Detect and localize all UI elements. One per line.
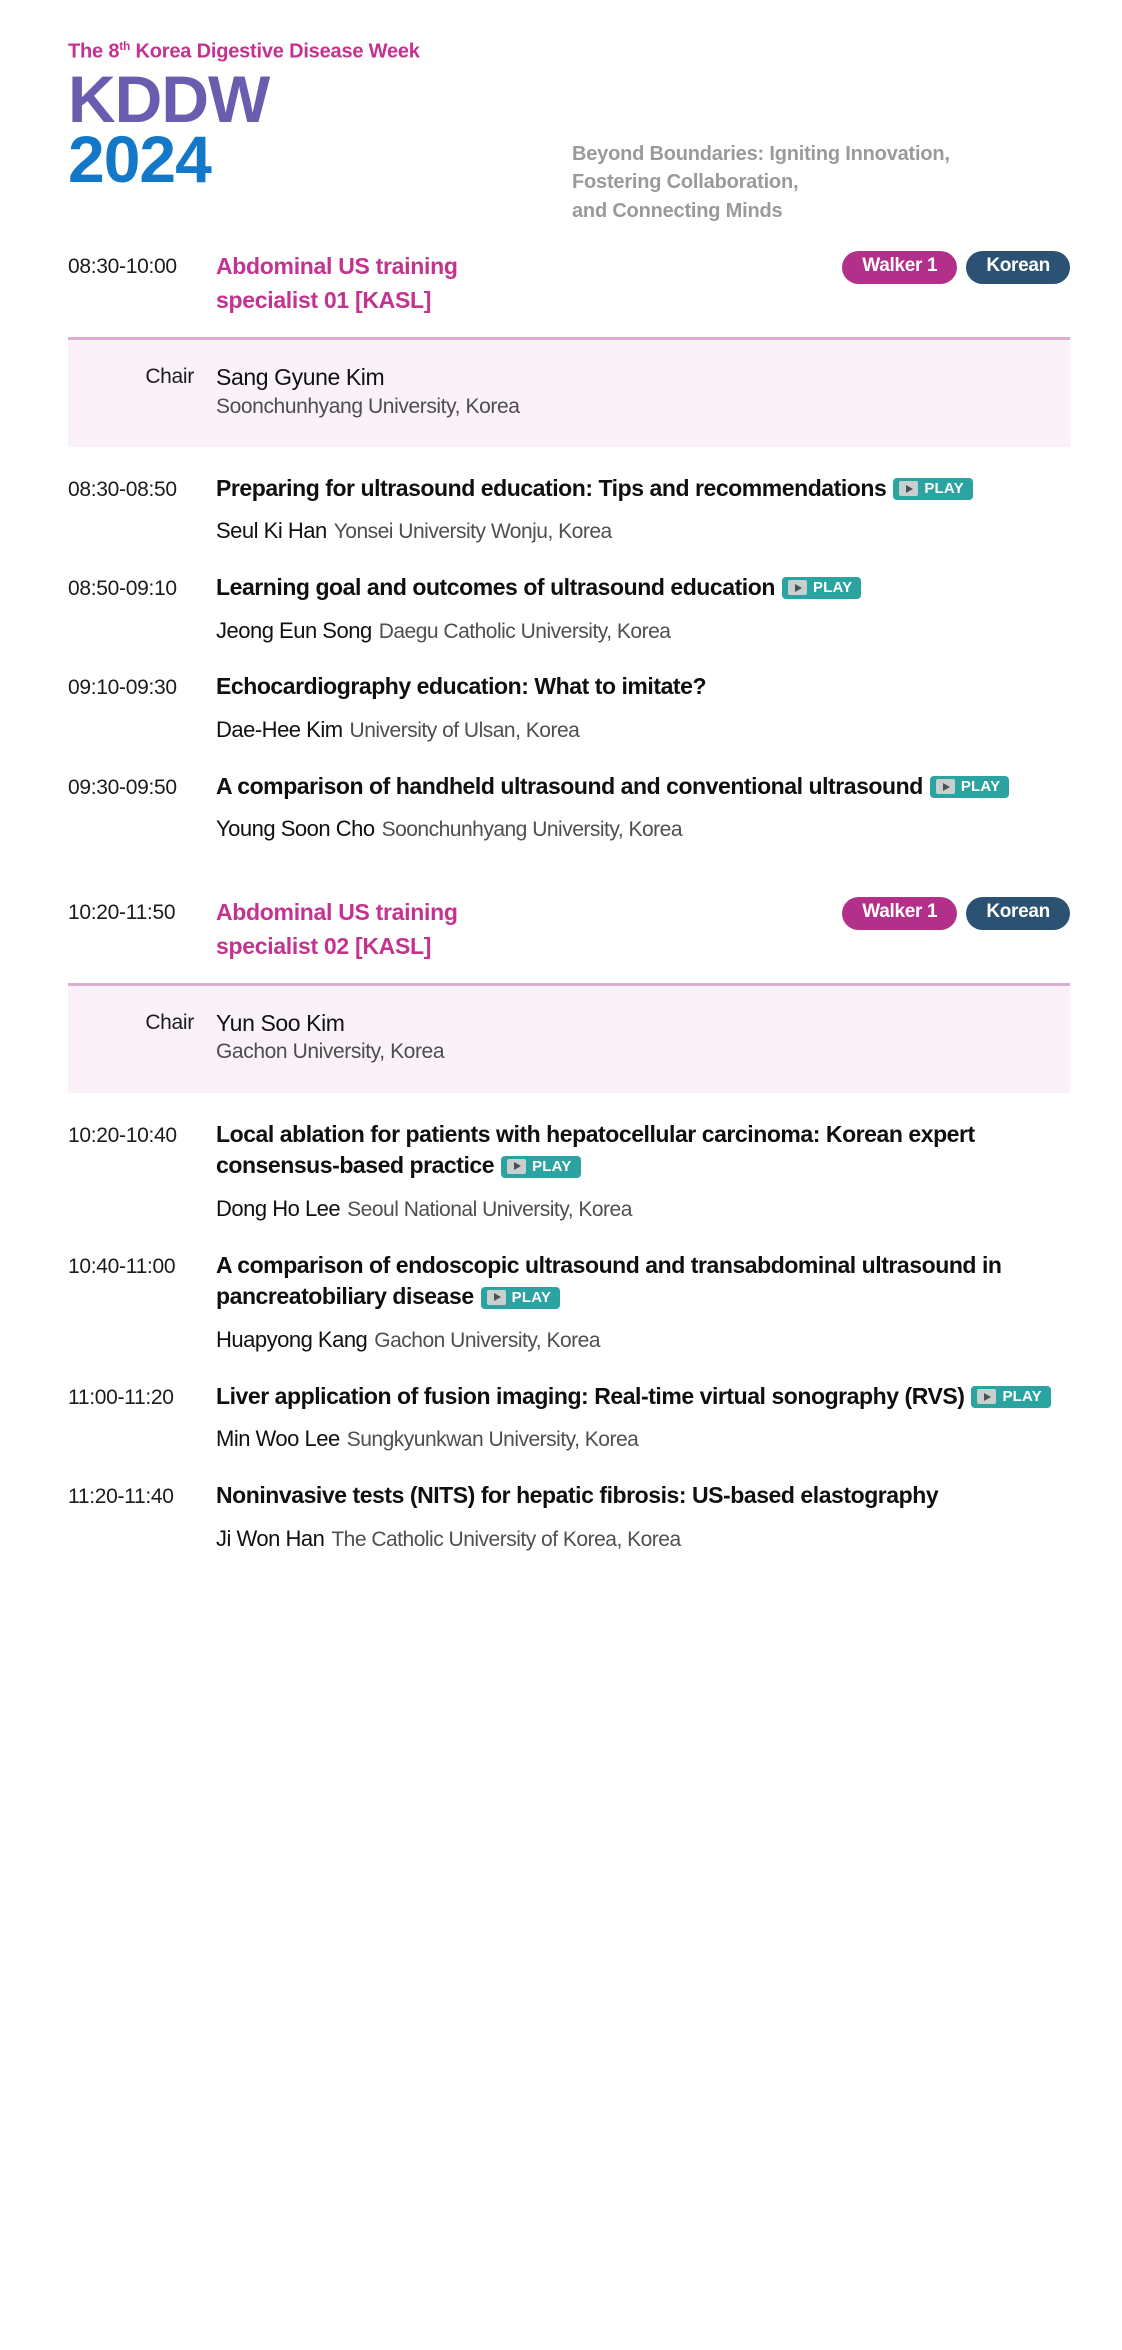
talk-row[interactable]: 10:20-10:40Local ablation for patients w…: [0, 1093, 1092, 1224]
play-label: PLAY: [1002, 1389, 1041, 1404]
chair-name: Sang Gyune Kim: [216, 362, 1070, 392]
speaker-name: Jeong Eun Song: [216, 618, 372, 643]
talk-title-text: A comparison of handheld ultrasound and …: [216, 773, 923, 799]
speaker-affiliation: Gachon University, Korea: [374, 1329, 600, 1352]
talk-body: Echocardiography education: What to imit…: [216, 671, 1070, 744]
chair-label: Chair: [68, 362, 216, 391]
talk-row[interactable]: 09:10-09:30Echocardiography education: W…: [0, 645, 1092, 744]
play-button[interactable]: PLAY: [893, 478, 972, 500]
tagline-ordinal: th: [119, 39, 130, 53]
talk-time: 09:30-09:50: [68, 771, 216, 803]
speaker-name: Dae-Hee Kim: [216, 717, 343, 742]
speaker-line: Huapyong KangGachon University, Korea: [216, 1326, 1070, 1355]
chair-info: Sang Gyune KimSoonchunhyang University, …: [216, 362, 1070, 420]
talk-title[interactable]: Preparing for ultrasound education: Tips…: [216, 473, 1070, 505]
program-list: 08:30-10:00Abdominal US trainingspeciali…: [0, 250, 1122, 1553]
chair-name: Yun Soo Kim: [216, 1008, 1070, 1038]
slogan-line-3: and Connecting Minds: [572, 197, 950, 225]
talk-title[interactable]: A comparison of endoscopic ultrasound an…: [216, 1250, 1070, 1313]
play-label: PLAY: [532, 1159, 571, 1174]
room-badge: Walker 1: [842, 251, 957, 284]
talk-body: Learning goal and outcomes of ultrasound…: [216, 572, 1070, 645]
speaker-affiliation: Soonchunhyang University, Korea: [382, 818, 682, 841]
session-title[interactable]: Abdominal US trainingspecialist 02 [KASL…: [216, 896, 516, 963]
talk-title-text: Liver application of fusion imaging: Rea…: [216, 1383, 964, 1409]
talk-body: A comparison of endoscopic ultrasound an…: [216, 1250, 1070, 1355]
session-title[interactable]: Abdominal US trainingspecialist 01 [KASL…: [216, 250, 516, 317]
chair-label: Chair: [68, 1008, 216, 1037]
language-badge: Korean: [966, 251, 1070, 284]
play-button[interactable]: PLAY: [971, 1386, 1050, 1408]
speaker-name: Huapyong Kang: [216, 1327, 367, 1352]
talk-time: 10:40-11:00: [68, 1250, 216, 1282]
talk-title[interactable]: Echocardiography education: What to imit…: [216, 671, 1070, 703]
session-block: 08:30-10:00Abdominal US trainingspeciali…: [0, 250, 1092, 844]
speaker-affiliation: Sungkyunkwan University, Korea: [347, 1428, 639, 1451]
session-title-line-2: specialist 01 [KASL]: [216, 284, 516, 318]
session-time: 08:30-10:00: [68, 250, 216, 282]
speaker-name: Ji Won Han: [216, 1526, 324, 1551]
talk-time: 11:20-11:40: [68, 1480, 216, 1512]
talk-body: Noninvasive tests (NITS) for hepatic fib…: [216, 1480, 1070, 1553]
talk-row[interactable]: 10:40-11:00A comparison of endoscopic ul…: [0, 1224, 1092, 1355]
speaker-affiliation: The Catholic University of Korea, Korea: [331, 1528, 680, 1551]
chair-info: Yun Soo KimGachon University, Korea: [216, 1008, 1070, 1066]
play-triangle-icon: [977, 1389, 996, 1404]
talk-row[interactable]: 08:30-08:50Preparing for ultrasound educ…: [0, 447, 1092, 546]
play-triangle-icon: [936, 779, 955, 794]
play-triangle-icon: [788, 580, 807, 595]
speaker-name: Dong Ho Lee: [216, 1196, 340, 1221]
speaker-line: Dong Ho LeeSeoul National University, Ko…: [216, 1195, 1070, 1224]
talk-body: Liver application of fusion imaging: Rea…: [216, 1381, 1070, 1454]
speaker-line: Dae-Hee KimUniversity of Ulsan, Korea: [216, 716, 1070, 745]
play-button[interactable]: PLAY: [782, 577, 861, 599]
speaker-name: Min Woo Lee: [216, 1426, 340, 1451]
play-triangle-icon: [487, 1290, 506, 1305]
talk-title-text: A comparison of endoscopic ultrasound an…: [216, 1252, 1002, 1310]
session-title-line-1: Abdominal US training: [216, 896, 516, 930]
talk-time: 11:00-11:20: [68, 1381, 216, 1413]
speaker-name: Seul Ki Han: [216, 518, 327, 543]
talk-title-text: Preparing for ultrasound education: Tips…: [216, 475, 886, 501]
slogan-line-2: Fostering Collaboration,: [572, 168, 950, 196]
tagline-rest: Korea Digestive Disease Week: [130, 41, 420, 63]
speaker-affiliation: University of Ulsan, Korea: [350, 719, 580, 742]
talk-row[interactable]: 09:30-09:50A comparison of handheld ultr…: [0, 745, 1092, 844]
play-triangle-icon: [507, 1159, 526, 1174]
play-label: PLAY: [961, 779, 1000, 794]
chair-block: ChairYun Soo KimGachon University, Korea: [68, 983, 1070, 1092]
talk-body: Local ablation for patients with hepatoc…: [216, 1119, 1070, 1224]
speaker-name: Young Soon Cho: [216, 816, 375, 841]
event-slogan: Beyond Boundaries: Igniting Innovation, …: [572, 140, 950, 225]
session-spacer: [0, 844, 1092, 896]
speaker-line: Jeong Eun SongDaegu Catholic University,…: [216, 617, 1070, 646]
room-badge: Walker 1: [842, 897, 957, 930]
session-badges: Walker 1Korean: [842, 896, 1092, 930]
talk-body: A comparison of handheld ultrasound and …: [216, 771, 1070, 844]
session-badges: Walker 1Korean: [842, 250, 1092, 284]
talk-time: 09:10-09:30: [68, 671, 216, 703]
talk-title[interactable]: A comparison of handheld ultrasound and …: [216, 771, 1070, 803]
speaker-affiliation: Daegu Catholic University, Korea: [379, 620, 671, 643]
slogan-line-1: Beyond Boundaries: Igniting Innovation,: [572, 140, 950, 168]
page-header: The 8th Korea Digestive Disease Week KDD…: [0, 0, 1122, 250]
play-label: PLAY: [813, 580, 852, 595]
chair-affiliation: Soonchunhyang University, Korea: [216, 393, 1070, 421]
play-button[interactable]: PLAY: [481, 1287, 560, 1309]
play-triangle-icon: [899, 481, 918, 496]
session-time: 10:20-11:50: [68, 896, 216, 928]
talk-title[interactable]: Local ablation for patients with hepatoc…: [216, 1119, 1070, 1182]
tagline-prefix: The 8: [68, 41, 119, 63]
talk-title-text: Echocardiography education: What to imit…: [216, 673, 706, 699]
session-title-line-1: Abdominal US training: [216, 250, 516, 284]
language-badge: Korean: [966, 897, 1070, 930]
speaker-line: Min Woo LeeSungkyunkwan University, Kore…: [216, 1425, 1070, 1454]
session-title-line-2: specialist 02 [KASL]: [216, 930, 516, 964]
talk-time: 08:50-09:10: [68, 572, 216, 604]
talk-row[interactable]: 11:20-11:40Noninvasive tests (NITS) for …: [0, 1454, 1092, 1553]
talk-title-text: Noninvasive tests (NITS) for hepatic fib…: [216, 1482, 938, 1508]
play-button[interactable]: PLAY: [930, 776, 1009, 798]
play-label: PLAY: [924, 481, 963, 496]
talk-body: Preparing for ultrasound education: Tips…: [216, 473, 1070, 546]
chair-affiliation: Gachon University, Korea: [216, 1038, 1070, 1066]
talk-title[interactable]: Noninvasive tests (NITS) for hepatic fib…: [216, 1480, 1070, 1512]
talk-title-text: Learning goal and outcomes of ultrasound…: [216, 574, 775, 600]
talk-row[interactable]: 08:50-09:10Learning goal and outcomes of…: [0, 546, 1092, 645]
speaker-line: Seul Ki HanYonsei University Wonju, Kore…: [216, 517, 1070, 546]
talk-title[interactable]: Learning goal and outcomes of ultrasound…: [216, 572, 1070, 604]
session-header[interactable]: 08:30-10:00Abdominal US trainingspeciali…: [0, 250, 1092, 317]
speaker-affiliation: Yonsei University Wonju, Korea: [334, 520, 612, 543]
talk-time: 08:30-08:50: [68, 473, 216, 505]
talk-time: 10:20-10:40: [68, 1119, 216, 1151]
kddw-logo-word: KDDW: [68, 69, 1122, 130]
speaker-line: Ji Won HanThe Catholic University of Kor…: [216, 1525, 1070, 1554]
talk-title-text: Local ablation for patients with hepatoc…: [216, 1121, 975, 1179]
play-label: PLAY: [512, 1290, 551, 1305]
speaker-line: Young Soon ChoSoonchunhyang University, …: [216, 815, 1070, 844]
speaker-affiliation: Seoul National University, Korea: [347, 1198, 632, 1221]
play-button[interactable]: PLAY: [501, 1156, 580, 1178]
talk-title[interactable]: Liver application of fusion imaging: Rea…: [216, 1381, 1070, 1413]
chair-block: ChairSang Gyune KimSoonchunhyang Univers…: [68, 337, 1070, 446]
event-tagline: The 8th Korea Digestive Disease Week: [68, 40, 1122, 63]
session-header[interactable]: 10:20-11:50Abdominal US trainingspeciali…: [0, 896, 1092, 963]
session-block: 10:20-11:50Abdominal US trainingspeciali…: [0, 896, 1092, 1553]
talk-row[interactable]: 11:00-11:20Liver application of fusion i…: [0, 1355, 1092, 1454]
